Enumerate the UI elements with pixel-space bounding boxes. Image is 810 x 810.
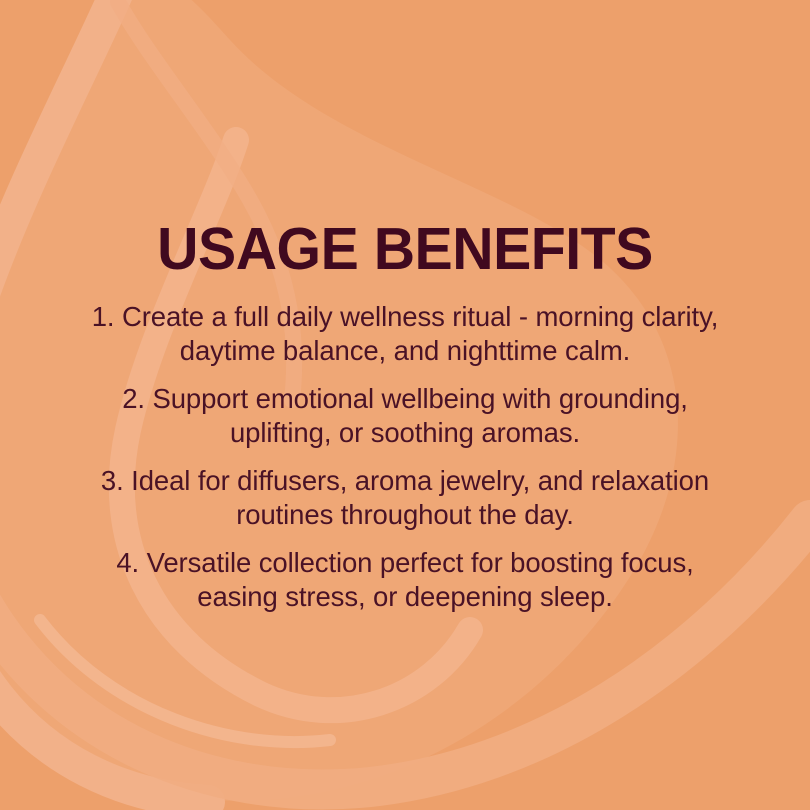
benefit-item-1: 1. Create a full daily wellness ritual -… <box>58 300 752 367</box>
page-title: USAGE BENEFITS <box>12 218 798 280</box>
slide-content: USAGE BENEFITS 1. Create a full daily we… <box>0 0 810 810</box>
benefits-list: 1. Create a full daily wellness ritual -… <box>58 300 752 613</box>
benefit-item-3: 3. Ideal for diffusers, aroma jewelry, a… <box>58 464 752 531</box>
benefit-item-2: 2. Support emotional wellbeing with grou… <box>58 382 752 449</box>
benefit-item-4: 4. Versatile collection perfect for boos… <box>58 546 752 613</box>
slide-canvas: USAGE BENEFITS 1. Create a full daily we… <box>0 0 810 810</box>
